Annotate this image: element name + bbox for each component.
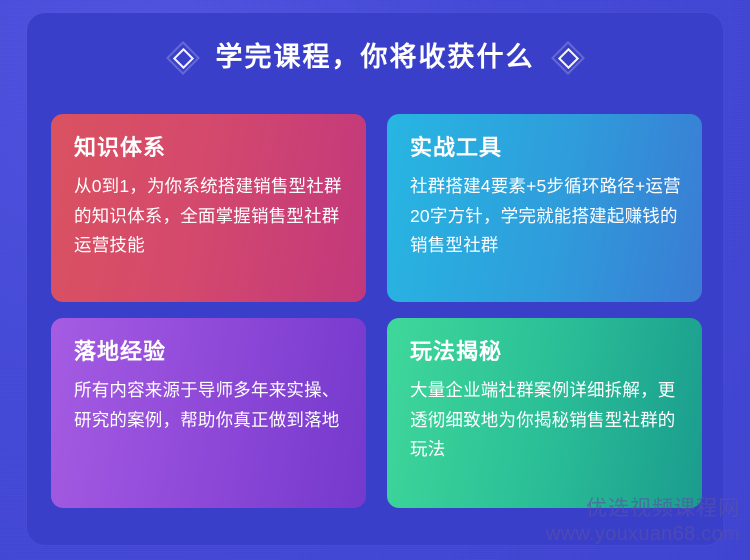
benefit-card-playbook-reveal[interactable]: 玩法揭秘 大量企业端社群案例详细拆解，更透彻细致地为你揭秘销售型社群的玩法	[387, 318, 702, 508]
card-body: 所有内容来源于导师多年来实操、研究的案例，帮助你真正做到落地	[74, 376, 346, 435]
benefit-card-grid: 知识体系 从0到1，为你系统搭建销售型社群的知识体系，全面掌握销售型社群运营技能…	[51, 114, 701, 508]
card-body: 从0到1，为你系统搭建销售型社群的知识体系，全面掌握销售型社群运营技能	[74, 172, 346, 260]
card-body: 大量企业端社群案例详细拆解，更透彻细致地为你揭秘销售型社群的玩法	[410, 376, 682, 464]
card-title: 玩法揭秘	[410, 340, 682, 364]
benefit-card-practical-tools[interactable]: 实战工具 社群搭建4要素+5步循环路径+运营20字方针，学完就能搭建起赚钱的销售…	[387, 114, 702, 302]
card-title: 实战工具	[410, 136, 682, 160]
promo-banner: 学完课程，你将收获什么 知识体系 从0到1，为你系统搭建销售型社群的知识体系，全…	[0, 0, 750, 560]
card-body: 社群搭建4要素+5步循环路径+运营20字方针，学完就能搭建起赚钱的销售型社群	[410, 172, 682, 260]
card-title: 知识体系	[74, 136, 346, 160]
card-title: 落地经验	[74, 340, 346, 364]
benefit-card-knowledge-system[interactable]: 知识体系 从0到1，为你系统搭建销售型社群的知识体系，全面掌握销售型社群运营技能	[51, 114, 366, 302]
benefit-card-field-experience[interactable]: 落地经验 所有内容来源于导师多年来实操、研究的案例，帮助你真正做到落地	[51, 318, 366, 508]
